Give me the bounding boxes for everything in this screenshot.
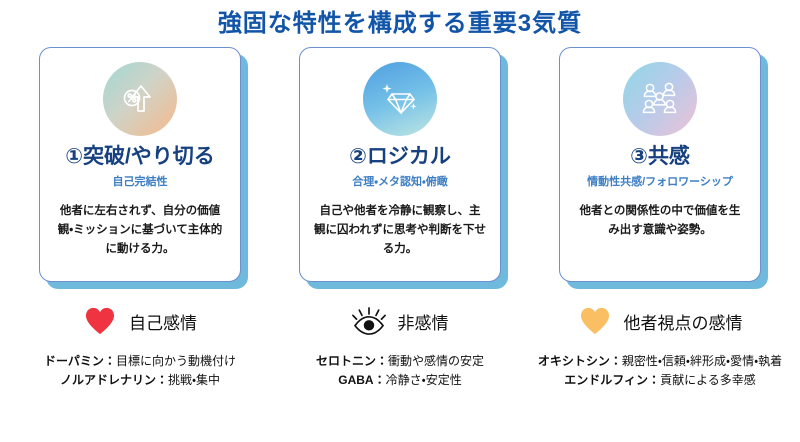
column-empathy: ③共感 情動性共感/フォロワーシップ 他者との関係性の中で価値を生み出す意識や姿…: [538, 47, 782, 389]
chemical-separator: ：: [610, 354, 622, 368]
chemical-line: オキシトシン：親密性・信頼・絆形成・愛情・執着: [529, 352, 791, 371]
column-logical: ②ロジカル 合理・メタ認知・俯瞰 自己や他者を冷静に観察し、主観に囚われずに思考…: [278, 47, 522, 389]
chemical-desc: 目標に向かう動機付け: [116, 354, 236, 368]
card-heading-2: ②ロジカル: [349, 146, 451, 168]
chemical-desc: 挑戦・集中: [168, 373, 220, 387]
emotion-row-2: 非感情: [352, 304, 449, 338]
chemical-name: ドーパミン: [44, 354, 104, 368]
page-title: 強固な特性を構成する重要3気質: [0, 0, 800, 37]
diamond-sparkle-icon: [363, 62, 437, 136]
card-body-3: 他者との関係性の中で価値を生み出す意識や姿勢。: [560, 202, 760, 240]
card-empathy[interactable]: ③共感 情動性共感/フォロワーシップ 他者との関係性の中で価値を生み出す意識や姿…: [559, 47, 761, 282]
emotion-label-3: 他者視点の感情: [624, 309, 743, 334]
people-group-icon: [623, 62, 697, 136]
red-heart-icon: [83, 306, 117, 336]
card-logical[interactable]: ②ロジカル 合理・メタ認知・俯瞰 自己や他者を冷静に観察し、主観に囚われずに思考…: [299, 47, 501, 282]
chemical-desc: 親密性・信頼・絆形成・愛情・執着: [622, 354, 782, 368]
orange-heart-icon: [578, 306, 612, 336]
chemical-separator: ：: [648, 373, 660, 387]
chemical-line: ドーパミン：目標に向かう動機付け: [16, 352, 264, 371]
chemical-separator: ：: [374, 373, 386, 387]
card-body-1: 他者に左右されず、自分の価値観・ミッションに基づいて主体的に動ける力。: [40, 202, 240, 259]
chemical-name: エンドルフィン: [564, 373, 648, 387]
chemical-desc: 衝動や感情の安定: [388, 354, 484, 368]
chemical-desc: 冷静さ・安定性: [386, 373, 462, 387]
chemical-name: ノルアドレナリン: [60, 373, 156, 387]
card-heading-3: ③共感: [630, 146, 690, 168]
card-breakthrough[interactable]: ①突破/やり切る 自己完結性 他者に左右されず、自分の価値観・ミッションに基づい…: [39, 47, 241, 282]
chemical-line: セロトニン：衝動や感情の安定: [276, 352, 524, 371]
emotion-row-1: 自己感情: [83, 304, 197, 338]
card-wrap-2: ②ロジカル 合理・メタ認知・俯瞰 自己や他者を冷静に観察し、主観に囚われずに思考…: [299, 47, 501, 282]
column-breakthrough: ①突破/やり切る 自己完結性 他者に左右されず、自分の価値観・ミッションに基づい…: [18, 47, 262, 389]
chemical-line: ノルアドレナリン：挑戦・集中: [16, 371, 264, 390]
emotion-label-2: 非感情: [398, 309, 449, 334]
chemical-line: エンドルフィン：貢献による多幸感: [529, 371, 791, 390]
card-subtitle-1: 自己完結性: [113, 173, 168, 189]
chemical-line: GABA：冷静さ・安定性: [276, 371, 524, 390]
chemicals-2: セロトニン：衝動や感情の安定 GABA：冷静さ・安定性: [276, 352, 524, 389]
columns-container: ①突破/やり切る 自己完結性 他者に左右されず、自分の価値観・ミッションに基づい…: [0, 47, 800, 389]
card-body-2: 自己や他者を冷静に観察し、主観に囚われずに思考や判断を下せる力。: [300, 202, 500, 259]
infographic-root: 強固な特性を構成する重要3気質 ①突破/やり切る: [0, 0, 800, 390]
chemical-separator: ：: [104, 354, 116, 368]
emotion-label-1: 自己感情: [129, 309, 197, 334]
chemical-separator: ：: [376, 354, 388, 368]
chemical-name: GABA: [338, 373, 373, 387]
card-wrap-1: ①突破/やり切る 自己完結性 他者に左右されず、自分の価値観・ミッションに基づい…: [39, 47, 241, 282]
card-heading-1: ①突破/やり切る: [65, 146, 215, 168]
chemical-name: セロトニン: [316, 354, 376, 368]
chemicals-3: オキシトシン：親密性・信頼・絆形成・愛情・執着 エンドルフィン：貢献による多幸感: [529, 352, 791, 389]
chemical-desc: 貢献による多幸感: [660, 373, 756, 387]
chemical-name: オキシトシン: [538, 354, 610, 368]
upward-arrow-percent-icon: [103, 62, 177, 136]
card-subtitle-3: 情動性共感/フォロワーシップ: [587, 173, 733, 189]
emotion-row-3: 他者視点の感情: [578, 304, 743, 338]
card-subtitle-2: 合理・メタ認知・俯瞰: [352, 173, 447, 189]
eye-icon: [352, 306, 386, 336]
chemical-separator: ：: [156, 373, 168, 387]
chemicals-1: ドーパミン：目標に向かう動機付け ノルアドレナリン：挑戦・集中: [16, 352, 264, 389]
card-wrap-3: ③共感 情動性共感/フォロワーシップ 他者との関係性の中で価値を生み出す意識や姿…: [559, 47, 761, 282]
